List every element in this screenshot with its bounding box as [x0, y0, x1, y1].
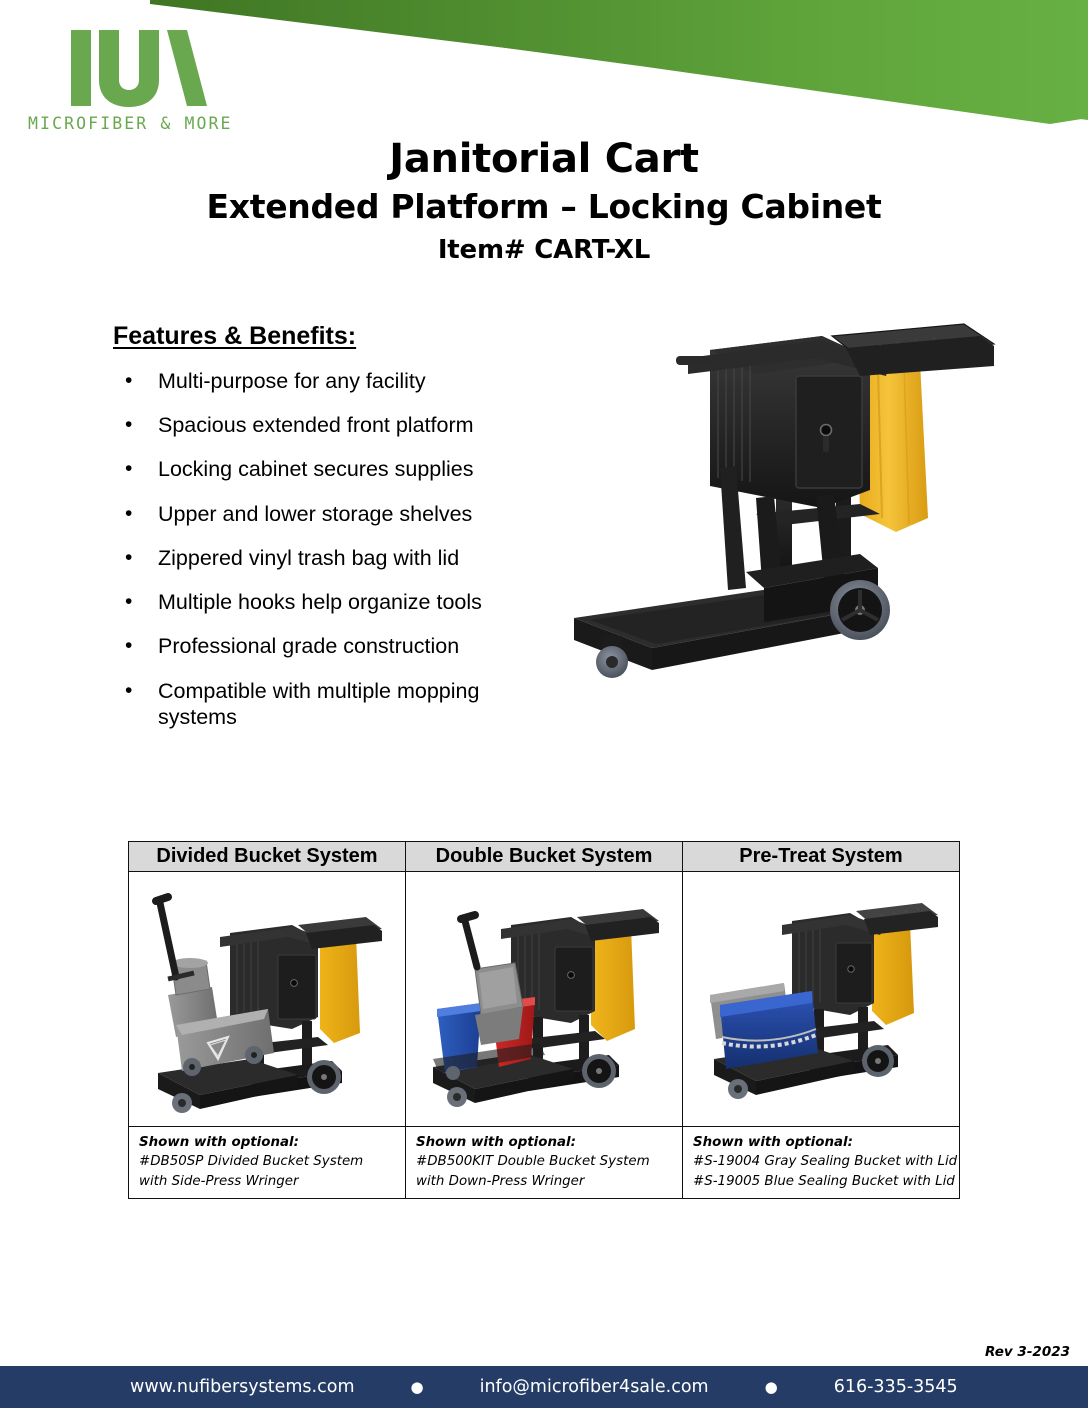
double-bucket-caption: Shown with optional: #DB500KIT Double Bu…: [406, 1127, 683, 1199]
feature-label: Professional grade construction: [158, 634, 459, 658]
separator-dot-icon: ●: [765, 1378, 778, 1396]
feature-item: •Professional grade construction: [113, 633, 533, 659]
pre-treat-system-cell: [683, 872, 960, 1127]
footer-website[interactable]: www.nufibersystems.com: [130, 1377, 355, 1397]
page-title-block: Janitorial Cart Extended Platform – Lock…: [0, 136, 1088, 268]
table-caption-row: Shown with optional: #DB50SP Divided Buc…: [129, 1127, 960, 1199]
pre-treat-caption: Shown with optional: #S-19004 Gray Seali…: [683, 1127, 960, 1199]
bullet-icon: •: [125, 412, 132, 438]
divided-bucket-system-photo: [133, 876, 401, 1122]
features-list: •Multi-purpose for any facility •Spaciou…: [113, 368, 533, 730]
feature-item: •Compatible with multiple mopping system…: [113, 678, 533, 730]
table-header-row: Divided Bucket System Double Bucket Syst…: [129, 842, 960, 872]
footer-phone[interactable]: 616-335-3545: [834, 1377, 958, 1397]
bullet-icon: •: [125, 633, 132, 659]
bullet-icon: •: [125, 368, 132, 394]
feature-label: Locking cabinet secures supplies: [158, 457, 474, 481]
feature-label: Upper and lower storage shelves: [158, 502, 472, 526]
page-title: Janitorial Cart: [0, 136, 1088, 182]
mopping-systems-table: Divided Bucket System Double Bucket Syst…: [128, 841, 960, 1199]
footer-contact-bar: www.nufibersystems.com ● info@microfiber…: [0, 1366, 1088, 1408]
caption-heading: Shown with optional:: [139, 1133, 401, 1152]
feature-label: Spacious extended front platform: [158, 413, 474, 437]
divided-bucket-system-cell: [129, 872, 406, 1127]
product-sheet-page: MICROFIBER & MORE Janitorial Cart Extend…: [0, 0, 1088, 1408]
bullet-icon: •: [125, 678, 132, 704]
caption-heading: Shown with optional:: [416, 1133, 678, 1152]
footer-email[interactable]: info@microfiber4sale.com: [480, 1377, 709, 1397]
caption-line: #DB50SP Divided Bucket System: [139, 1152, 401, 1171]
page-subtitle: Extended Platform – Locking Cabinet: [0, 186, 1088, 229]
feature-label: Multiple hooks help organize tools: [158, 590, 482, 614]
bullet-icon: •: [125, 456, 132, 482]
feature-item: •Spacious extended front platform: [113, 412, 533, 438]
double-bucket-system-photo: [410, 876, 678, 1122]
bullet-icon: •: [125, 589, 132, 615]
column-header-divided-bucket: Divided Bucket System: [129, 842, 406, 872]
caption-line: #DB500KIT Double Bucket System: [416, 1152, 678, 1171]
pre-treat-system-photo: [687, 876, 955, 1122]
feature-label: Compatible with multiple mopping systems: [158, 679, 479, 729]
separator-dot-icon: ●: [411, 1378, 424, 1396]
feature-item: •Multi-purpose for any facility: [113, 368, 533, 394]
features-heading: Features & Benefits:: [113, 322, 533, 351]
feature-item: •Upper and lower storage shelves: [113, 501, 533, 527]
feature-item: •Multiple hooks help organize tools: [113, 589, 533, 615]
caption-line: with Down-Press Wringer: [416, 1172, 678, 1191]
revision-label: Rev 3-2023: [985, 1344, 1070, 1360]
feature-item: •Locking cabinet secures supplies: [113, 456, 533, 482]
caption-heading: Shown with optional:: [693, 1133, 955, 1152]
features-section: Features & Benefits: •Multi-purpose for …: [113, 322, 533, 748]
feature-label: Multi-purpose for any facility: [158, 369, 426, 393]
double-bucket-system-cell: [406, 872, 683, 1127]
column-header-pre-treat: Pre-Treat System: [683, 842, 960, 872]
feature-label: Zippered vinyl trash bag with lid: [158, 546, 459, 570]
divided-bucket-caption: Shown with optional: #DB50SP Divided Buc…: [129, 1127, 406, 1199]
brand-logo: MICROFIBER & MORE: [14, 28, 234, 133]
microfiber-m-logo-icon: [67, 28, 212, 108]
column-header-double-bucket: Double Bucket System: [406, 842, 683, 872]
caption-line: #S-19004 Gray Sealing Bucket with Lid: [693, 1152, 955, 1171]
table-image-row: [129, 872, 960, 1127]
janitorial-cart-photo: [560, 318, 1040, 758]
brand-name: MICROFIBER & MORE: [28, 114, 234, 133]
bullet-icon: •: [125, 545, 132, 571]
caption-line: with Side-Press Wringer: [139, 1172, 401, 1191]
caption-line: #S-19005 Blue Sealing Bucket with Lid: [693, 1172, 955, 1191]
bullet-icon: •: [125, 501, 132, 527]
feature-item: •Zippered vinyl trash bag with lid: [113, 545, 533, 571]
item-number: Item# CART-XL: [0, 234, 1088, 268]
